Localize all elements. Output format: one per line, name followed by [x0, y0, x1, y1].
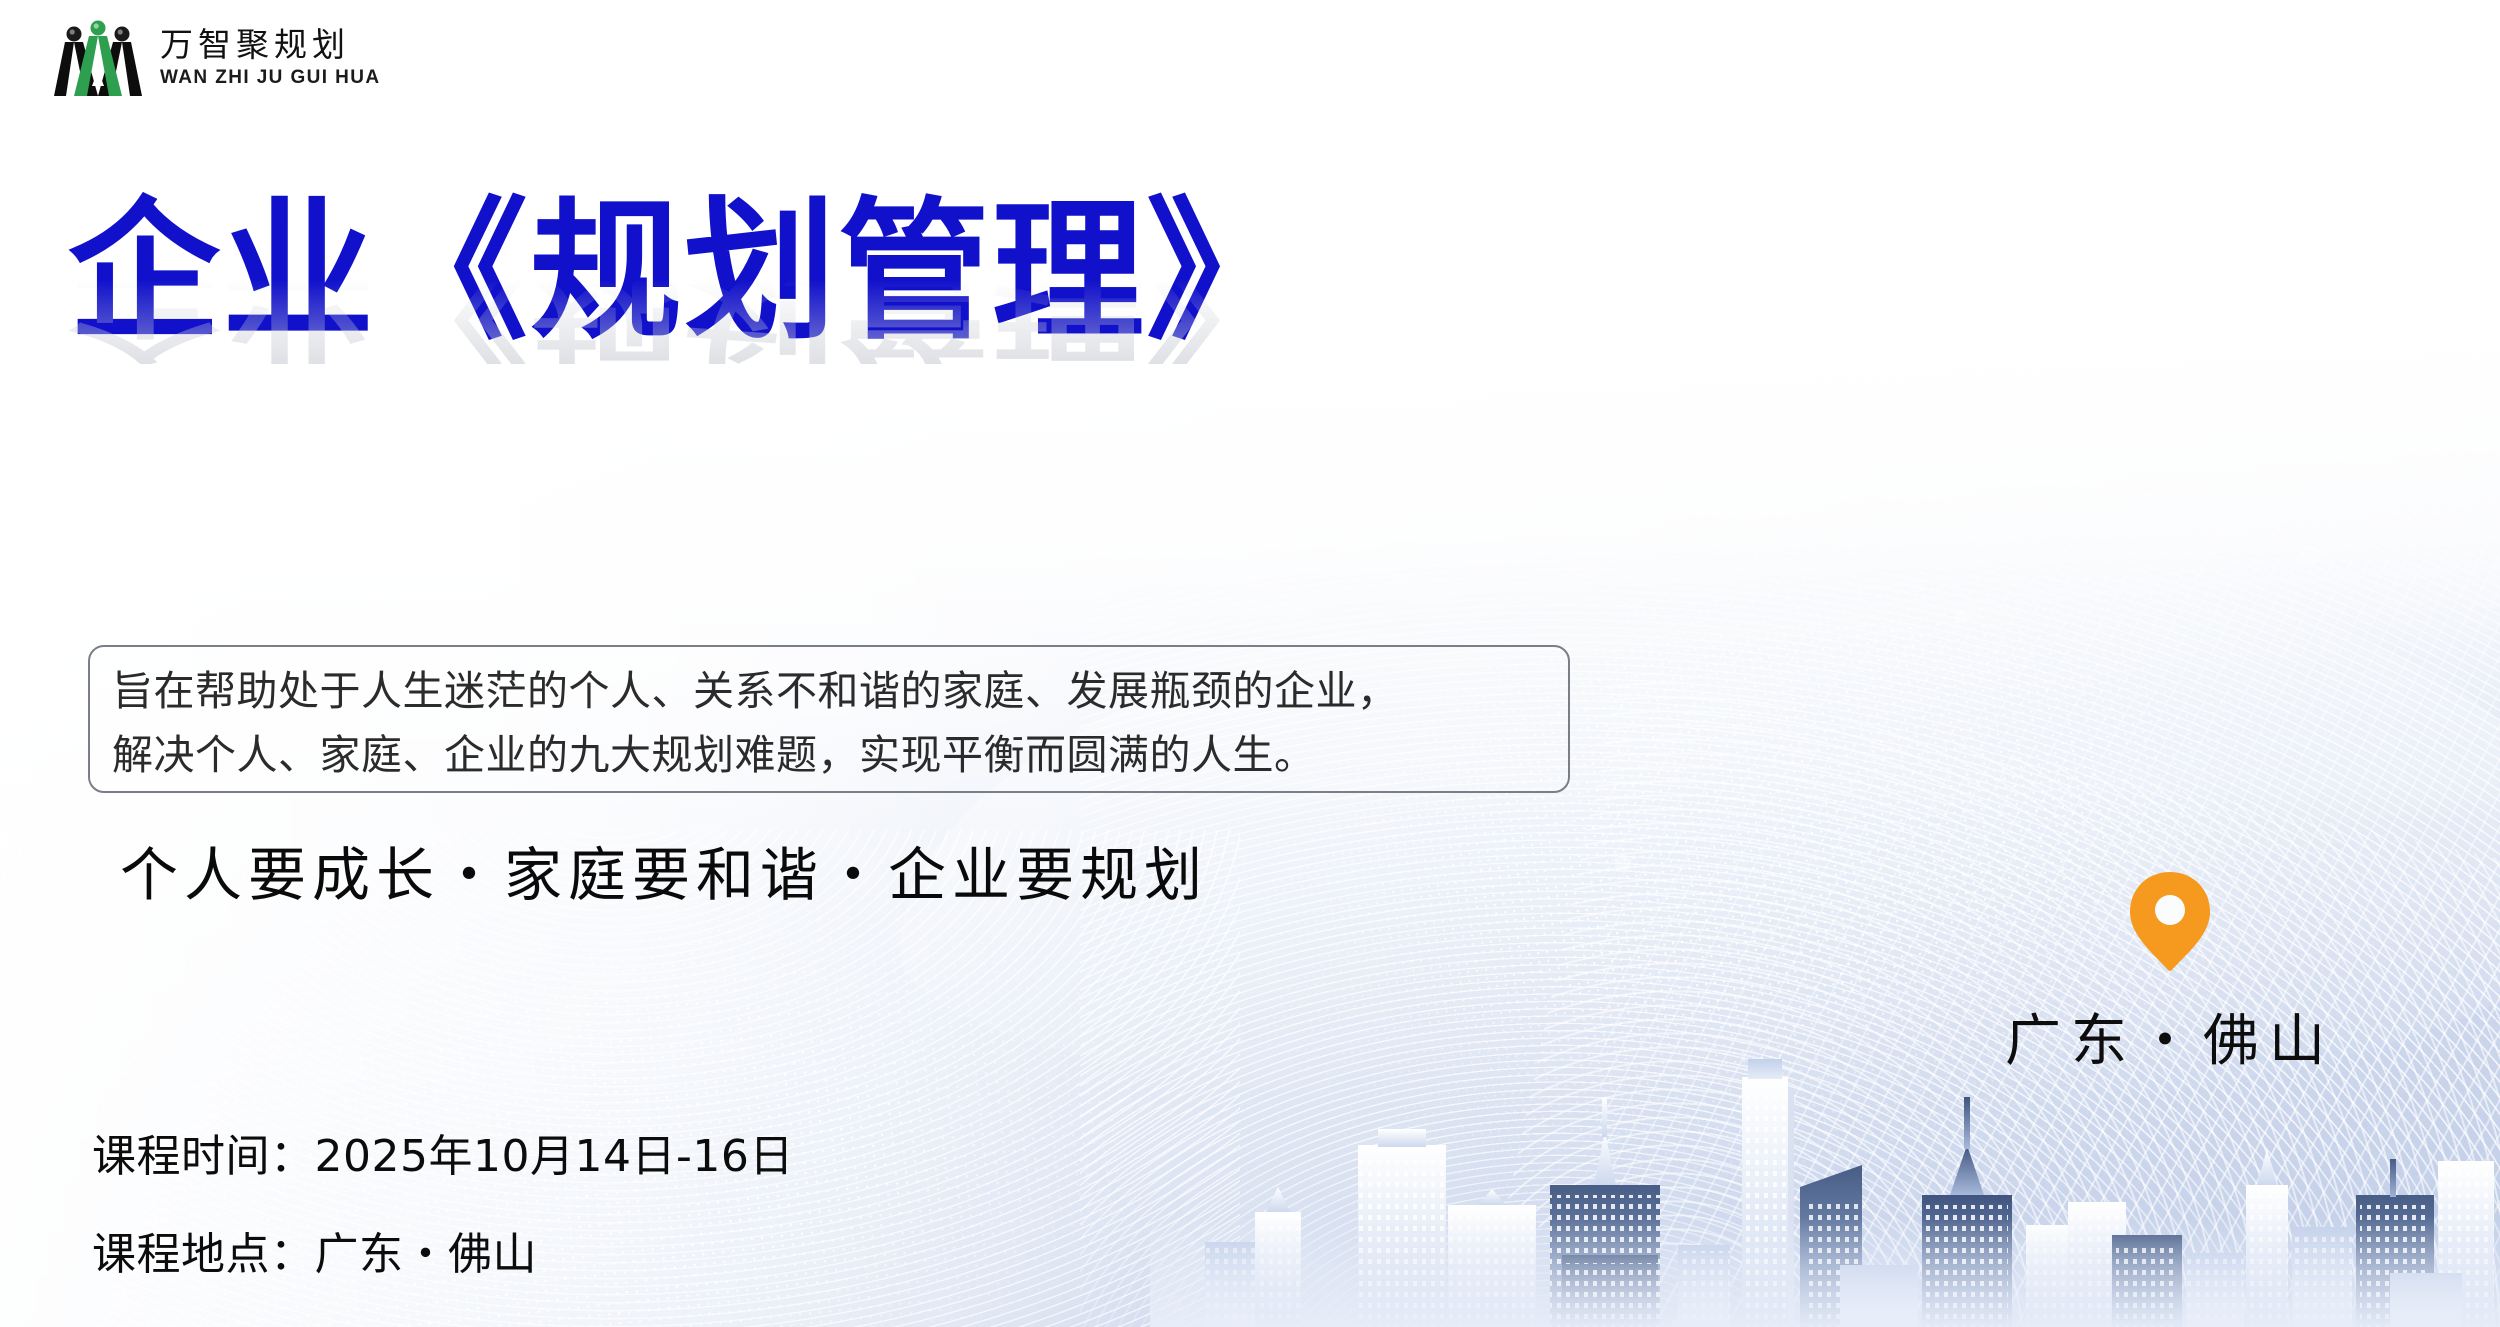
location-marker: 广东・佛山 [1960, 870, 2380, 1077]
location-label: 广东・佛山 [2005, 996, 2335, 1077]
map-pin-icon [2124, 870, 2216, 972]
description-line-2: 解决个人、家庭、企业的九大规划难题，实现平衡而圆满的人生。 [112, 723, 1550, 787]
description-box: 旨在帮助处于人生迷茫的个人、关系不和谐的家庭、发展瓶颈的企业， 解决个人、家庭、… [88, 645, 1570, 793]
three-people-logo-icon [52, 18, 144, 96]
bokeh-dot [1955, 610, 1969, 624]
course-info-block: 课程时间：2025年10月14日-16日 课程地点：广东・佛山 [92, 1120, 794, 1316]
bokeh-dot [1615, 855, 1631, 871]
slogan-text: 个人要成长・家庭要和谐・企业要规划 [120, 828, 1208, 912]
course-date: 课程时间：2025年10月14日-16日 [92, 1120, 794, 1184]
page-title: 企业《规划管理》 [68, 196, 1668, 348]
bokeh-dot [2110, 150, 2136, 176]
hero-title-block: 企业《规划管理》 企业《规划管理》 [68, 196, 1668, 348]
bokeh-dot [1395, 575, 1409, 589]
brand-logo[interactable]: 万智聚规划 WAN ZHI JU GUI HUA [52, 18, 380, 96]
brand-text: 万智聚规划 WAN ZHI JU GUI HUA [160, 28, 380, 87]
description-line-1: 旨在帮助处于人生迷茫的个人、关系不和谐的家庭、发展瓶颈的企业， [112, 659, 1550, 723]
bokeh-dot [2300, 545, 2320, 565]
brand-name-en: WAN ZHI JU GUI HUA [160, 68, 380, 87]
poster-canvas: 万智聚规划 WAN ZHI JU GUI HUA 企业《规划管理》 企业《规划管… [0, 0, 2500, 1327]
course-place: 课程地点：广东・佛山 [92, 1218, 794, 1282]
brand-name-cn: 万智聚规划 [160, 28, 380, 61]
